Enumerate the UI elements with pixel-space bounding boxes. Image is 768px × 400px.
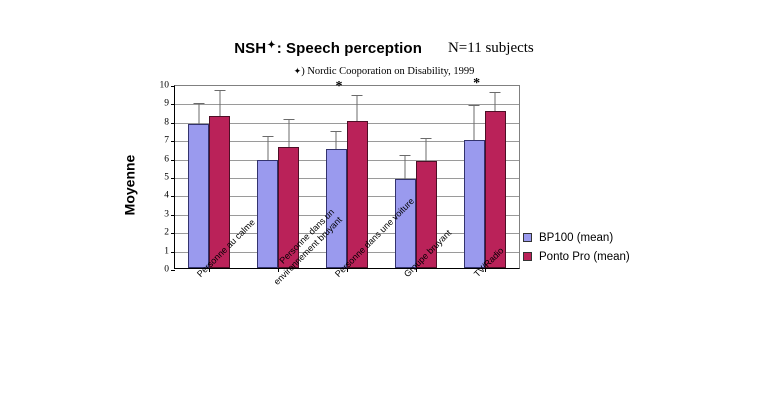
footnote: ✦) Nordic Cooporation on Disability, 199… — [0, 66, 768, 77]
error-bar — [219, 91, 220, 116]
bar[interactable] — [485, 111, 506, 268]
error-bar — [336, 132, 337, 149]
error-bar-cap — [421, 138, 432, 139]
error-bar-cap — [400, 155, 411, 156]
y-tick-label: 8 — [164, 118, 169, 128]
legend-item[interactable]: Ponto Pro (mean) — [523, 247, 693, 266]
title-block: NSH✦: Speech perceptionN=11 subjects — [0, 40, 768, 58]
y-tick-labels: 012345678910 — [148, 85, 172, 271]
title-main-text: NSH — [234, 40, 266, 57]
footnote-text: ) Nordic Cooporation on Disability, 1999 — [301, 66, 474, 77]
error-bar — [495, 93, 496, 110]
legend-label: BP100 (mean) — [539, 232, 613, 244]
chart-title: NSH✦: Speech perception — [234, 40, 422, 57]
legend: BP100 (mean)Ponto Pro (mean) — [523, 228, 693, 266]
chart-page: NSH✦: Speech perceptionN=11 subjects ✦) … — [0, 0, 768, 400]
y-tick-label: 1 — [164, 247, 169, 257]
diamond-icon: ✦ — [266, 40, 276, 51]
y-axis-title: Moyenne — [118, 135, 140, 235]
y-tick-label: 7 — [164, 136, 169, 146]
error-bar — [288, 120, 289, 147]
legend-label: Ponto Pro (mean) — [539, 251, 630, 263]
bar[interactable] — [464, 140, 485, 268]
significance-marker: * — [335, 80, 342, 94]
bar[interactable] — [188, 124, 209, 268]
bar-slot — [464, 86, 485, 268]
y-tick-mark — [171, 270, 175, 271]
y-tick-label: 9 — [164, 100, 169, 110]
y-axis-title-label: Moyenne — [121, 155, 137, 216]
error-bar — [198, 104, 199, 123]
y-tick-label: 10 — [160, 81, 170, 91]
error-bar — [474, 106, 475, 140]
error-bar-cap — [214, 90, 225, 91]
significance-marker: * — [473, 77, 480, 91]
error-bar-cap — [331, 131, 342, 132]
bar-slot — [188, 86, 209, 268]
bar-slot — [257, 86, 278, 268]
y-tick-label: 5 — [164, 173, 169, 183]
y-tick-label: 4 — [164, 192, 169, 202]
error-bar-cap — [352, 95, 363, 96]
bar-slot — [395, 86, 416, 268]
bar-group: * — [450, 86, 519, 268]
error-bar-cap — [193, 103, 204, 104]
error-bar — [357, 96, 358, 121]
bar-slot: * — [485, 86, 506, 268]
y-tick-label: 0 — [164, 265, 169, 275]
y-tick-label: 2 — [164, 228, 169, 238]
bar[interactable] — [257, 160, 278, 268]
y-tick-label: 6 — [164, 155, 169, 165]
error-bar — [426, 139, 427, 161]
legend-item[interactable]: BP100 (mean) — [523, 228, 693, 247]
error-bar-cap — [262, 136, 273, 137]
error-bar-cap — [490, 92, 501, 93]
subjects-count-label: N=11 subjects — [448, 40, 534, 57]
error-bar — [405, 156, 406, 179]
title-rest-text: : Speech perception — [277, 40, 422, 57]
bar-slot — [326, 86, 347, 268]
y-tick-label: 3 — [164, 210, 169, 220]
error-bar-cap — [469, 105, 480, 106]
x-axis-labels: Personne au calmePersonne dans unenviron… — [174, 272, 520, 382]
error-bar-cap — [283, 119, 294, 120]
legend-color-swatch — [523, 252, 532, 261]
legend-color-swatch — [523, 233, 532, 242]
error-bar — [267, 137, 268, 160]
plot-wrapper: 012345678910 ** — [148, 85, 520, 271]
bar[interactable] — [395, 179, 416, 268]
